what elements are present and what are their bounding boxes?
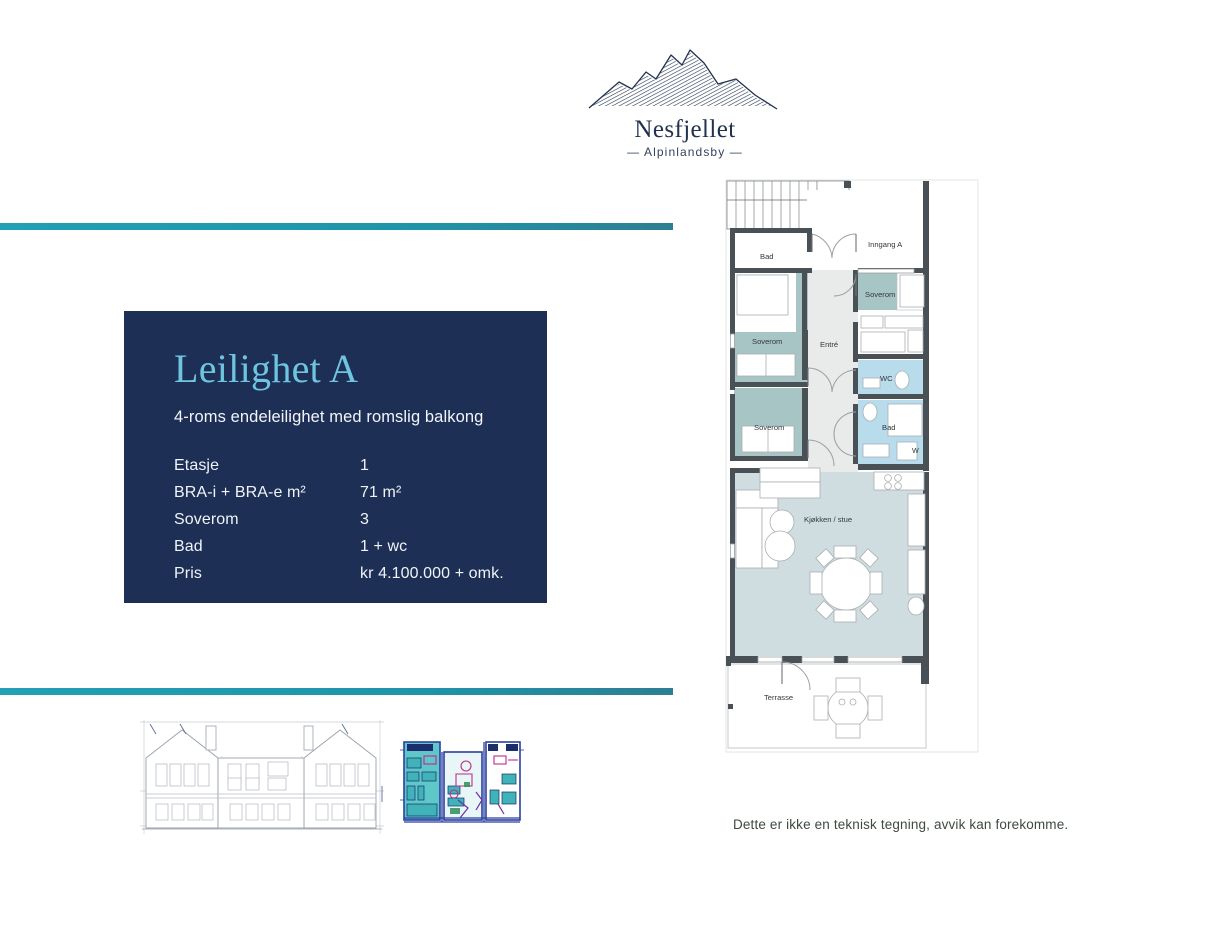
- room-entre-fill: [808, 270, 858, 480]
- spec-label: BRA-i + BRA-e m²: [174, 484, 360, 511]
- room-label-inngang: Inngang A: [868, 240, 903, 249]
- room-label-bad-top: Bad: [760, 252, 774, 261]
- spec-value: 1 + wc: [360, 538, 504, 565]
- room-label-soverom-right: Soverom: [865, 290, 895, 299]
- table-row: Bad 1 + wc: [174, 538, 504, 565]
- table-row: Etasje 1: [174, 457, 504, 484]
- floor-plan-key-thumbnail[interactable]: [398, 730, 526, 832]
- floor-plan-drawing[interactable]: Inngang A Bad Soverom Entré Soverom WC S…: [722, 172, 1004, 760]
- brand-logo: Nesfjellet — Alpinlandsby —: [560, 44, 810, 164]
- mountain-icon: [585, 44, 785, 116]
- room-label-bad-right: Bad: [882, 423, 896, 432]
- table-row: Soverom 3: [174, 511, 504, 538]
- room-label-kjokken-stue: Kjøkken / stue: [804, 515, 852, 524]
- apartment-subtitle: 4-roms endeleilighet med romslig balkong: [174, 408, 547, 427]
- spec-value: 3: [360, 511, 504, 538]
- table-row: BRA-i + BRA-e m² 71 m²: [174, 484, 504, 511]
- room-label-wc: WC: [880, 374, 893, 383]
- room-label-soverom-left-1: Soverom: [752, 337, 782, 346]
- room-label-terrasse: Terrasse: [764, 693, 793, 702]
- page-title: Leilighet A: [174, 349, 547, 389]
- disclaimer-text: Dette er ikke en teknisk tegning, avvik …: [733, 817, 1068, 832]
- spec-label: Bad: [174, 538, 360, 565]
- table-row: Pris kr 4.100.000 + omk.: [174, 565, 504, 592]
- room-label-washer: W: [912, 446, 919, 455]
- spec-label: Soverom: [174, 511, 360, 538]
- spec-label: Pris: [174, 565, 360, 592]
- spec-label: Etasje: [174, 457, 360, 484]
- building-elevation-thumbnail[interactable]: [136, 716, 388, 838]
- spec-table: Etasje 1 BRA-i + BRA-e m² 71 m² Soverom …: [174, 457, 504, 592]
- brand-name: Nesfjellet: [560, 117, 810, 142]
- brand-subtitle: — Alpinlandsby —: [560, 145, 810, 159]
- spec-value: kr 4.100.000 + omk.: [360, 565, 504, 592]
- room-label-entre: Entré: [820, 340, 838, 349]
- room-label-soverom-left-2: Soverom: [754, 423, 784, 432]
- apartment-info-card: Leilighet A 4-roms endeleilighet med rom…: [124, 311, 547, 603]
- divider-top: [0, 223, 673, 230]
- spec-value: 71 m²: [360, 484, 504, 511]
- divider-bottom: [0, 688, 673, 695]
- spec-value: 1: [360, 457, 504, 484]
